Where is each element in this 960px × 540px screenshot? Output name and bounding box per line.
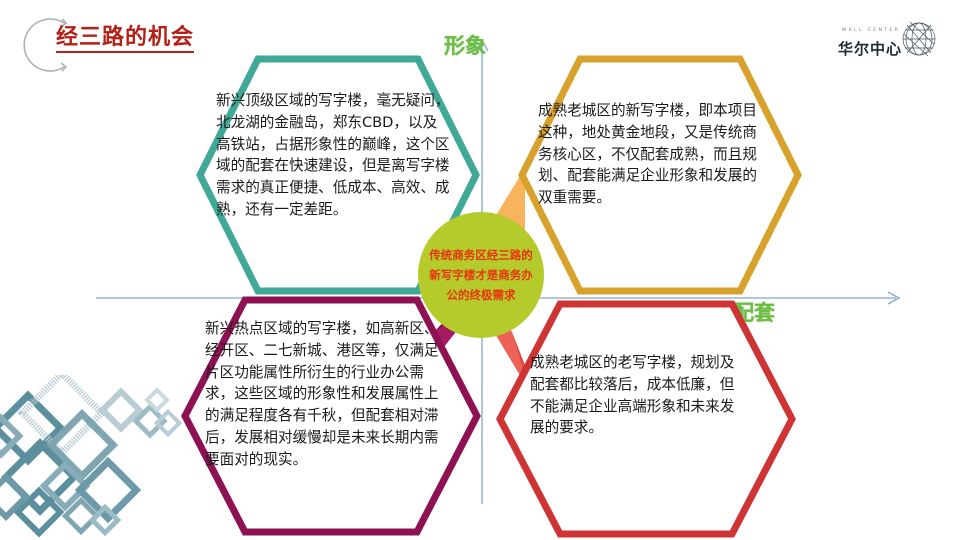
page-title: 经三路的机会	[56, 26, 194, 53]
hexagon-bottom-left-text: 新兴热点区域的写字楼，如高新区、经开区、二七新城、港区等，仅满足片区功能属性所衍…	[205, 318, 449, 471]
hexagon-bottom-right-text: 成熟老城区的老写字楼，规划及配套都比较落后，成本低廉，但不能满足企业高端形象和未…	[530, 352, 748, 439]
slide-canvas: 经三路的机会 WALL CENTER 华尔中心 形象 配套	[0, 0, 960, 540]
center-conclusion-circle[interactable]: 传统商务区经三路的新写字楼才是商务办公的终极需求	[418, 212, 544, 338]
hexagon-top-right-text: 成熟老城区的新写字楼，即本项目这种，地处黄金地段，又是传统商务核心区，不仅配套成…	[538, 100, 768, 209]
hexagon-top-left-text: 新兴顶级区域的写字楼，毫无疑问，北龙湖的金融岛，郑东CBD，以及高铁站，占据形象…	[216, 90, 450, 221]
logo-en-text: WALL CENTER	[842, 28, 900, 33]
center-conclusion-text: 传统商务区经三路的新写字楼才是商务办公的终极需求	[429, 245, 533, 305]
brand-logo: WALL CENTER 华尔中心	[834, 16, 946, 62]
logo-cn-text: 华尔中心	[838, 38, 902, 59]
